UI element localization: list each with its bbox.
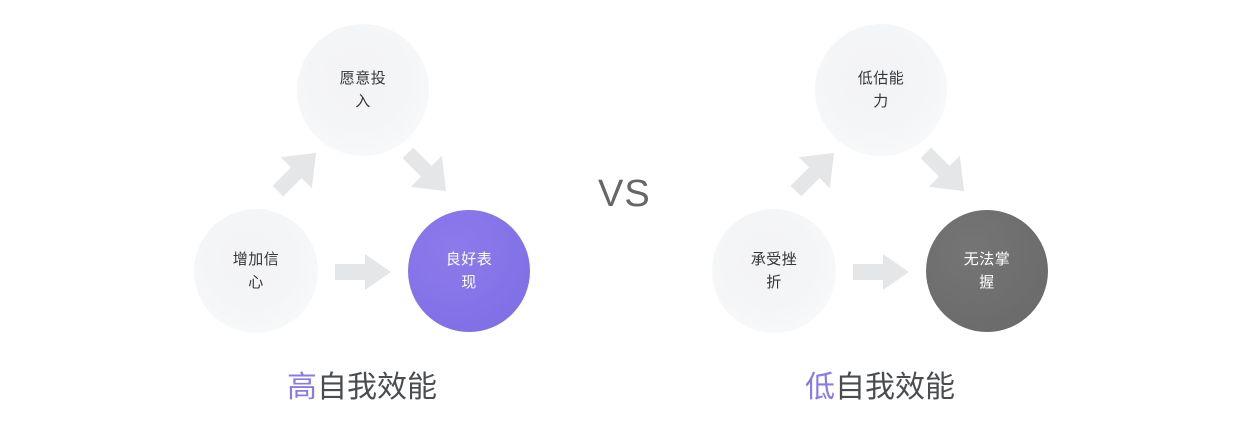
right-cluster-caption-rest: 自我效能	[835, 371, 955, 404]
left-cluster-arrow-right-icon	[335, 253, 391, 291]
right-cluster-node-result-label: 无法掌 握	[964, 248, 1011, 295]
right-cluster-caption: 低自我效能	[805, 373, 955, 403]
diagram-canvas: 愿意投 入 增加信 心 良好表 现	[0, 0, 1242, 429]
right-cluster-arrow-down-right-icon	[914, 141, 976, 203]
right-cluster-node-top[interactable]: 低估能 力	[815, 24, 947, 156]
left-cluster-node-top[interactable]: 愿意投 入	[297, 24, 429, 156]
left-cluster-caption: 高自我效能	[287, 373, 437, 403]
right-cluster-arrow-right-icon	[853, 253, 909, 291]
left-cluster-node-top-label: 愿意投 入	[340, 67, 387, 114]
right-cluster-arrow-up-right-icon	[784, 141, 846, 203]
right-cluster-caption-accent: 低	[805, 371, 835, 404]
left-cluster-node-left[interactable]: 增加信 心	[194, 209, 318, 333]
right-cluster-node-result[interactable]: 无法掌 握	[926, 210, 1048, 332]
right-cluster-node-top-label: 低估能 力	[858, 67, 905, 114]
right-cluster-node-left[interactable]: 承受挫 折	[712, 209, 836, 333]
left-cluster-arrow-down-right-icon	[396, 141, 458, 203]
left-cluster-node-result[interactable]: 良好表 现	[408, 210, 530, 332]
left-cluster-node-left-label: 增加信 心	[233, 248, 280, 295]
left-cluster-arrow-up-right-icon	[266, 141, 328, 203]
versus-label: VS	[598, 175, 651, 213]
left-cluster-caption-rest: 自我效能	[317, 371, 437, 404]
left-cluster-caption-accent: 高	[287, 371, 317, 404]
left-cluster-node-result-label: 良好表 现	[446, 248, 493, 295]
right-cluster-node-left-label: 承受挫 折	[751, 248, 798, 295]
